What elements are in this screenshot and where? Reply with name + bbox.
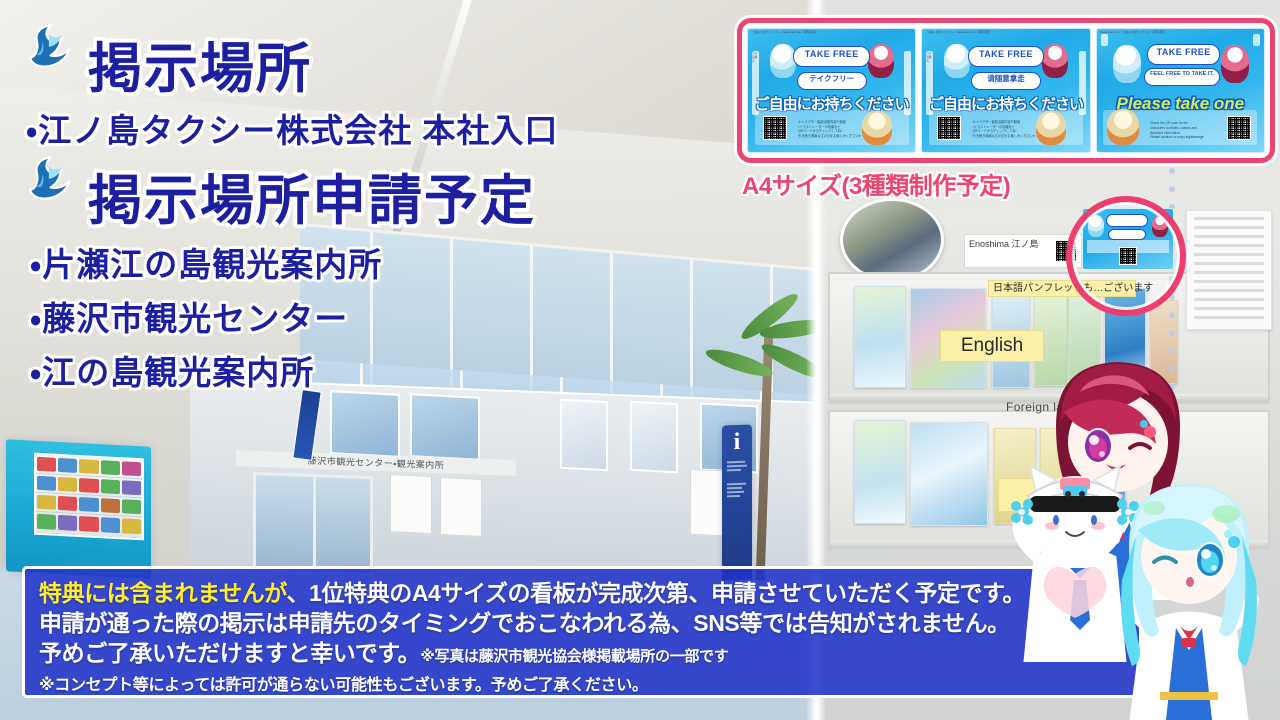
poster-fineprint: Check the QR code for the characters' ac… — [1150, 121, 1217, 139]
banner-line-3-note: ※写真は藤沢市観光協会様掲載場所の一部です — [420, 648, 728, 665]
wave-icon — [26, 22, 82, 70]
chibi-character-yellow — [1107, 109, 1139, 145]
list-item-planned-2: ・江の島観光案内所 — [30, 346, 314, 394]
banner-line-1-rest: 、1位特典のA4サイズの看板が完成次第、申請させていただく予定です。 — [286, 580, 1025, 606]
wall-notice — [1186, 210, 1272, 330]
chibi-character-red — [868, 44, 894, 78]
qr-card: Enoshima 江ノ島 — [964, 234, 1082, 268]
uchiwa-fan — [840, 198, 944, 282]
page-title-primary: 掲示場所 — [88, 24, 312, 103]
page-title-secondary: 掲示場所申請予定 — [88, 156, 536, 235]
a4-poster-strip: ご自由にお持ちください／Please take one／请随意拿走 江の島観光 … — [737, 18, 1275, 163]
chibi-character-yellow — [1036, 111, 1066, 145]
chibi-character-white — [944, 44, 970, 78]
qr-code-icon — [1227, 116, 1251, 140]
banner-highlight: 特典には含まれませんが — [39, 580, 286, 606]
a4-poster-zh: ご自由にお持ちください／Please take one／请随意拿走 江の島観光 … — [921, 28, 1090, 153]
brochure — [910, 422, 988, 526]
text-overlay: 掲示場所 ・江ノ島タクシー株式会社 本社入口 掲示場所申請予定 ・片瀬江の島観光… — [0, 0, 816, 560]
list-item-current-0: ・江ノ島タクシー株式会社 本社入口 — [26, 104, 558, 152]
banner-line-1: 特典には含まれませんが、1位特典のA4サイズの看板が完成次第、申請させていただく… — [39, 578, 1125, 608]
chibi-character-red — [1042, 44, 1068, 78]
chibi-character-white — [1113, 45, 1141, 83]
screenshot-root: 藤沢市観光センター・観光案内所 i — [0, 0, 1280, 720]
qr-code-icon — [937, 116, 961, 140]
wave-icon — [26, 154, 82, 202]
highlight-circle — [1066, 196, 1186, 316]
take-free-sub-pill: 请随意拿走 — [971, 72, 1041, 90]
take-free-sub-pill: FEEL FREE TO TAKE IT. — [1144, 68, 1221, 85]
banner-line-4: ※コンセプト等によっては許可が通らない可能性もございます。予めご了承ください。 — [39, 674, 1125, 698]
poster-fineprint: キャラクター最新活動内容や動画 ・イラストレーターの情報など QRコードからチェ… — [973, 120, 1037, 138]
list-item-planned-1: ・藤沢市観光センター — [30, 292, 348, 340]
poster-side-strip — [1101, 34, 1108, 46]
take-free-pill: TAKE FREE — [968, 46, 1045, 67]
chibi-character-yellow — [862, 111, 892, 145]
disclaimer-banner: 特典には含まれませんが、1位特典のA4サイズの看板が完成次第、申請させていただく… — [22, 566, 1142, 698]
banner-line-3: 予めご了承いただけますと幸いです。※写真は藤沢市観光協会様掲載場所の一部です — [39, 638, 1125, 672]
banner-line-3-main: 予めご了承いただけますと幸いです。 — [39, 640, 420, 666]
poster-side-strip — [1253, 34, 1260, 46]
brochure — [854, 286, 906, 388]
brochure — [854, 420, 906, 524]
take-free-pill: TAKE FREE — [1147, 44, 1221, 65]
chibi-character-red — [1221, 45, 1249, 83]
list-item-planned-0: ・片瀬江の島観光案内所 — [30, 238, 382, 286]
banner-line-2: 申請が通った際の掲示は申請先のタイミングでおこなわれる為、SNS等では告知がされ… — [39, 608, 1125, 638]
character-cyan-haired-girl — [1098, 476, 1280, 720]
a4-poster-en: Please take one／ご自由にお持ちください／请随意拿走 TAKE F… — [1096, 28, 1265, 153]
